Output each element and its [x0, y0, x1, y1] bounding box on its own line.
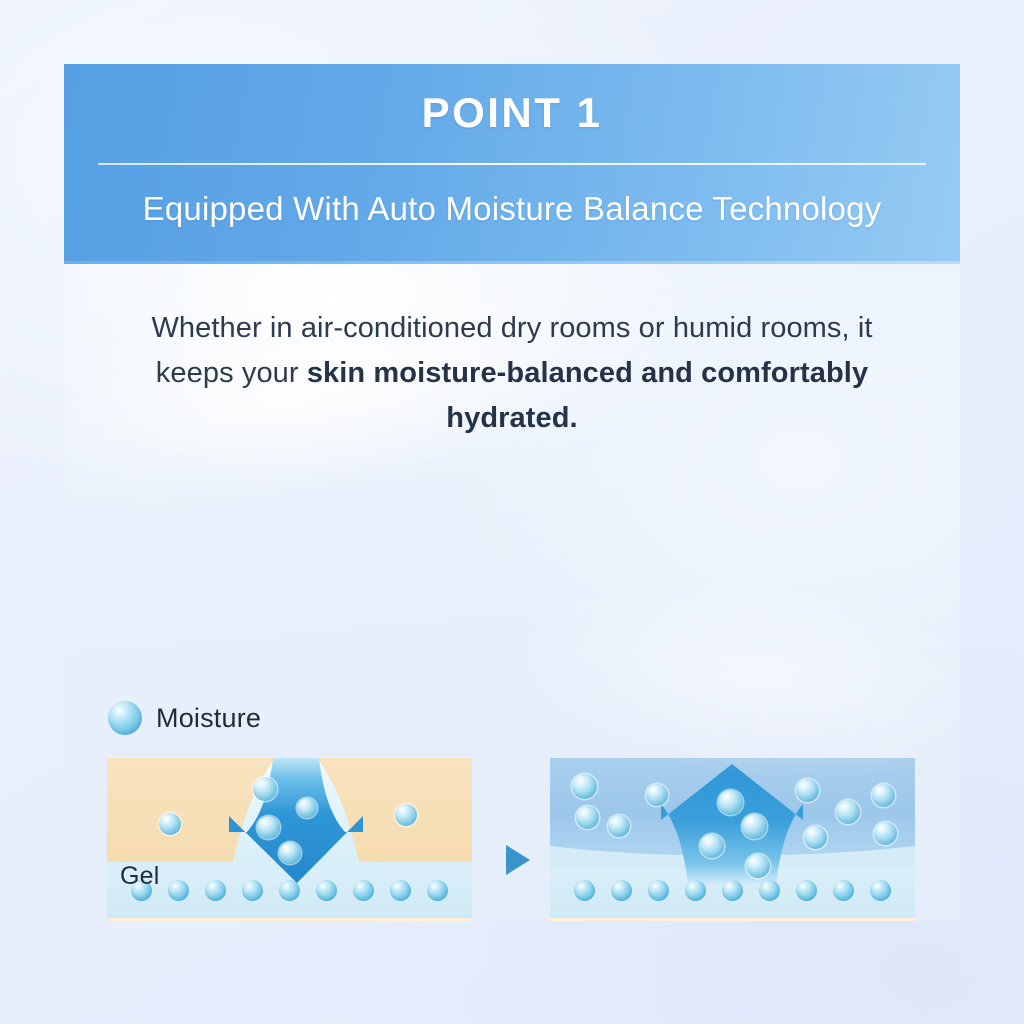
poster-canvas: POINT 1 Equipped With Auto Moisture Bala… — [0, 0, 1024, 1024]
card-body: Whether in air-conditioned dry rooms or … — [64, 264, 960, 921]
moisture-bubble — [257, 816, 280, 839]
gel-bubble — [870, 880, 891, 901]
diagram-panel-humid — [550, 758, 915, 921]
moisture-bubble — [796, 779, 819, 802]
moisture-bubble — [159, 813, 181, 835]
gel-bubble — [796, 880, 817, 901]
moisture-bubble — [804, 826, 827, 849]
gel-bubble — [574, 880, 595, 901]
moisture-bubble-icon — [108, 701, 142, 735]
moisture-bubble — [872, 784, 895, 807]
moisture-bubble — [836, 800, 860, 824]
gel-bubble-row-humid — [550, 880, 915, 901]
gel-layer-label: Gel — [120, 862, 160, 891]
gel-bubble — [648, 880, 669, 901]
header-subtitle: Equipped With Auto Moisture Balance Tech… — [64, 190, 960, 228]
moisture-bubble — [718, 790, 743, 815]
skin-cells-dry — [107, 918, 472, 921]
moisture-bubble — [279, 842, 301, 864]
moisture-bubble — [395, 804, 417, 826]
moisture-bubble — [874, 822, 897, 845]
moisture-bubble — [297, 798, 317, 818]
gel-bubble — [685, 880, 706, 901]
point-card: POINT 1 Equipped With Auto Moisture Bala… — [64, 64, 960, 921]
gel-bubble — [279, 880, 300, 901]
moisture-bubble — [608, 815, 630, 837]
diagram-panel-dry — [107, 758, 472, 921]
moisture-bubble — [572, 774, 597, 799]
moisture-bubble — [253, 777, 277, 801]
legend-label: Moisture — [156, 703, 261, 734]
description-paragraph: Whether in air-conditioned dry rooms or … — [122, 306, 902, 441]
moisture-bubble — [700, 834, 724, 858]
gel-bubble — [242, 880, 263, 901]
gel-bubble-row-dry — [107, 880, 472, 901]
gel-bubble — [759, 880, 780, 901]
description-emphasis: skin moisture-balanced and comfortably h… — [307, 357, 868, 434]
gel-bubble — [833, 880, 854, 901]
gel-bubble — [168, 880, 189, 901]
gel-bubble — [316, 880, 337, 901]
header-divider — [98, 163, 926, 165]
gel-bubble — [611, 880, 632, 901]
gel-bubble — [353, 880, 374, 901]
point-number-title: POINT 1 — [64, 92, 960, 134]
skin-cells-humid — [550, 918, 915, 921]
gel-bubble — [427, 880, 448, 901]
gel-bubble — [722, 880, 743, 901]
gel-bubble — [205, 880, 226, 901]
legend: Moisture — [108, 701, 261, 735]
moisture-bubble — [576, 806, 599, 829]
moisture-bubble — [746, 854, 770, 878]
transition-arrow-icon — [506, 845, 530, 875]
gel-bubble — [390, 880, 411, 901]
moisture-bubble — [742, 814, 767, 839]
moisture-bubble — [646, 784, 668, 806]
card-header: POINT 1 Equipped With Auto Moisture Bala… — [64, 64, 960, 264]
